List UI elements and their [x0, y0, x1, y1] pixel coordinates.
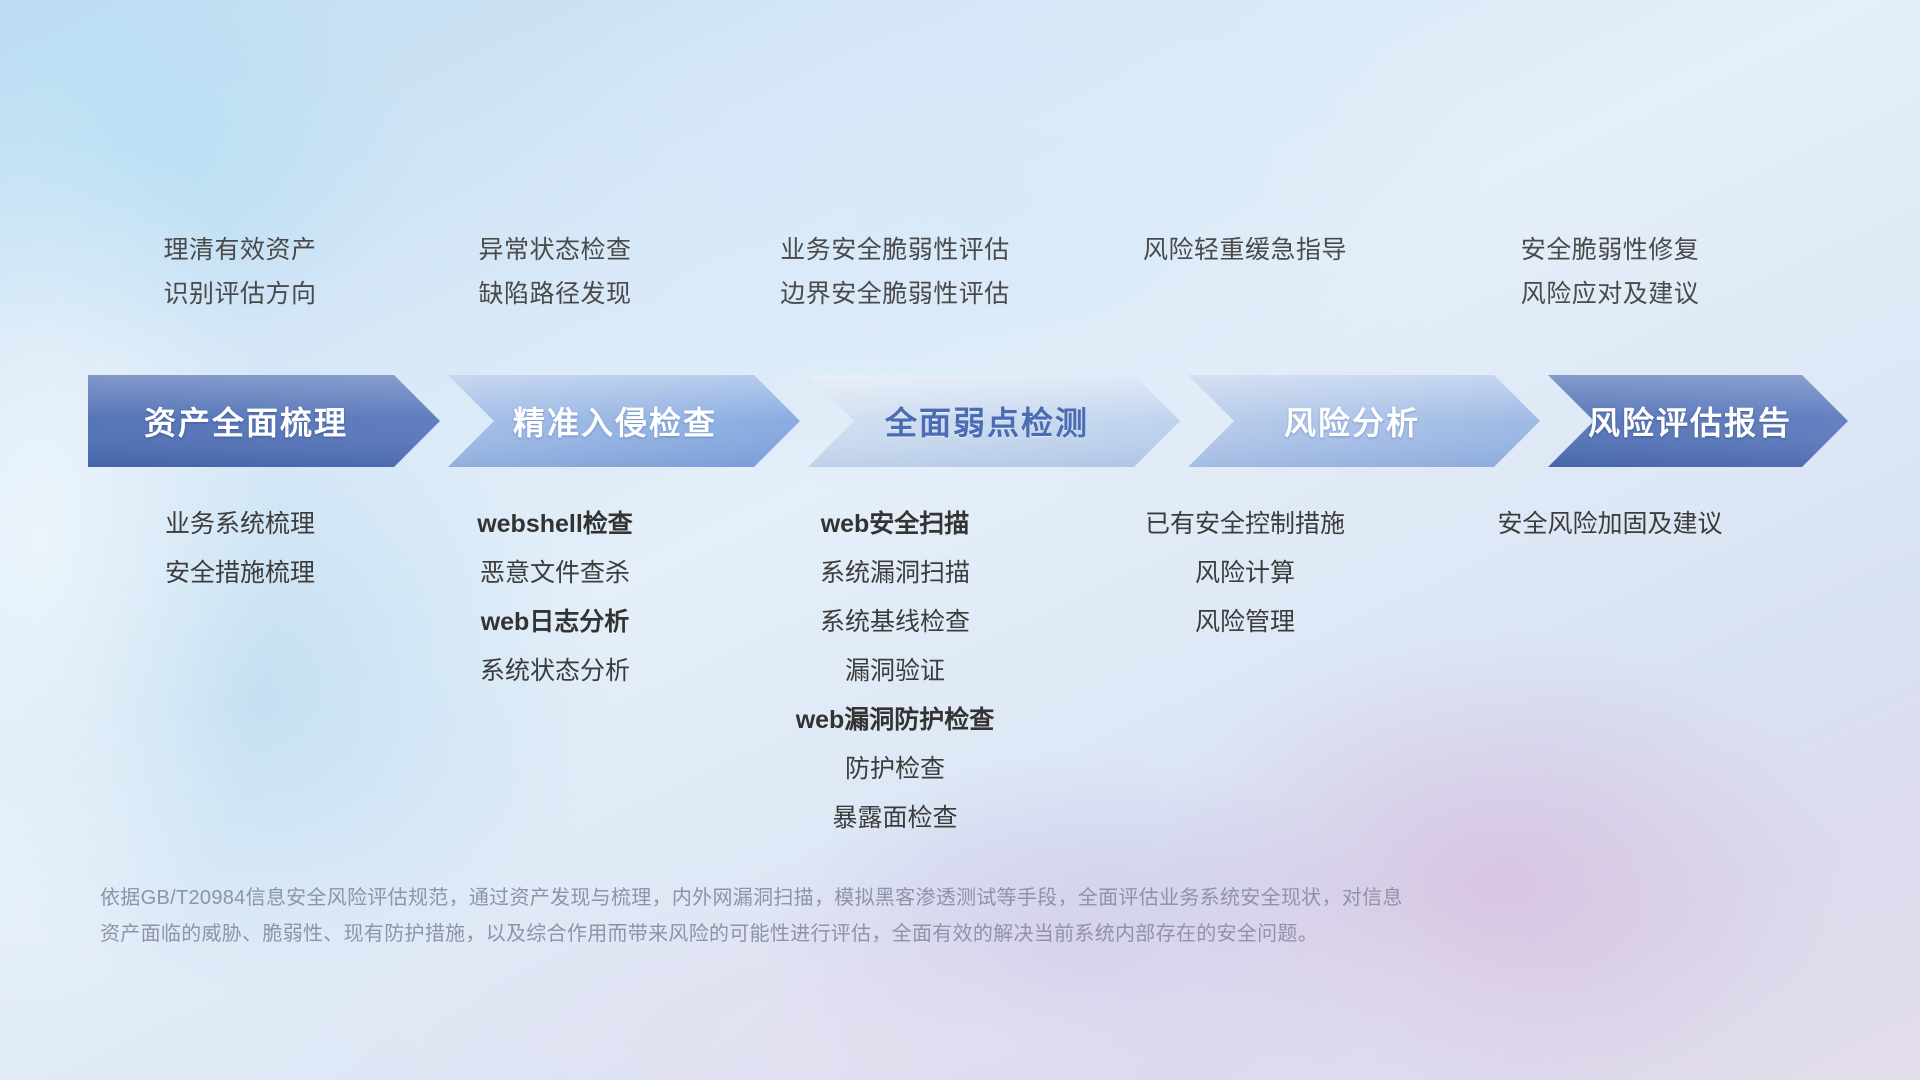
- bottom-list-3: web安全扫描 系统漏洞扫描 系统基线检查 漏洞验证 web漏洞防护检查 防护检…: [720, 500, 1070, 843]
- list-item: web安全扫描: [720, 500, 1070, 549]
- top-label-item: 识别评估方向: [90, 272, 390, 316]
- list-item: web日志分析: [390, 598, 720, 647]
- list-item: 漏洞验证: [720, 647, 1070, 696]
- chevron-label-5: 风险评估报告: [1588, 398, 1792, 444]
- list-item: 风险计算: [1070, 549, 1420, 598]
- bottom-list-5: 安全风险加固及建议: [1420, 500, 1800, 549]
- list-item: 安全风险加固及建议: [1420, 500, 1800, 549]
- list-item: 恶意文件查杀: [390, 549, 720, 598]
- list-item: 系统基线检查: [720, 598, 1070, 647]
- top-label-item: 异常状态检查: [390, 228, 720, 272]
- list-item: webshell检查: [390, 500, 720, 549]
- top-label-item: 缺陷路径发现: [390, 272, 720, 316]
- list-item: 风险管理: [1070, 598, 1420, 647]
- chevron-stage-5[interactable]: 风险评估报告: [1548, 375, 1848, 467]
- footer-description: 依据GB/T20984信息安全风险评估规范，通过资产发现与梳理，内外网漏洞扫描，…: [100, 880, 1720, 952]
- bottom-lists-row: 业务系统梳理 安全措施梳理 webshell检查 恶意文件查杀 web日志分析 …: [90, 500, 1840, 843]
- list-item: 防护检查: [720, 745, 1070, 794]
- bottom-list-2: webshell检查 恶意文件查杀 web日志分析 系统状态分析: [390, 500, 720, 696]
- list-item: 安全措施梳理: [90, 549, 390, 598]
- chevron-stage-4[interactable]: 风险分析: [1188, 375, 1540, 467]
- top-label-item: 风险应对及建议: [1420, 272, 1800, 316]
- footer-line-1: 依据GB/T20984信息安全风险评估规范，通过资产发现与梳理，内外网漏洞扫描，…: [100, 880, 1720, 916]
- chevron-stage-3[interactable]: 全面弱点检测: [808, 375, 1180, 467]
- top-label-item: 边界安全脆弱性评估: [720, 272, 1070, 316]
- top-label-group-2: 异常状态检查 缺陷路径发现: [390, 228, 720, 316]
- top-labels-row: 理清有效资产 识别评估方向 异常状态检查 缺陷路径发现 业务安全脆弱性评估 边界…: [90, 228, 1840, 316]
- top-label-item: 安全脆弱性修复: [1420, 228, 1800, 272]
- top-label-group-4: 风险轻重缓急指导: [1070, 228, 1420, 316]
- infographic-content: 理清有效资产 识别评估方向 异常状态检查 缺陷路径发现 业务安全脆弱性评估 边界…: [0, 0, 1920, 1080]
- list-item: 已有安全控制措施: [1070, 500, 1420, 549]
- chevron-label-2: 精准入侵检查: [513, 398, 717, 444]
- chevron-stage-1[interactable]: 资产全面梳理: [88, 375, 440, 467]
- top-label-group-5: 安全脆弱性修复 风险应对及建议: [1420, 228, 1800, 316]
- top-label-item: 风险轻重缓急指导: [1070, 228, 1420, 272]
- chevron-label-1: 资产全面梳理: [144, 398, 348, 444]
- chevron-label-4: 风险分析: [1284, 398, 1420, 444]
- top-label-item: 业务安全脆弱性评估: [720, 228, 1070, 272]
- top-label-item: 理清有效资产: [90, 228, 390, 272]
- chevron-stage-2[interactable]: 精准入侵检查: [448, 375, 800, 467]
- process-chevron-banner: 资产全面梳理: [88, 375, 1848, 467]
- slide-background: 理清有效资产 识别评估方向 异常状态检查 缺陷路径发现 业务安全脆弱性评估 边界…: [0, 0, 1920, 1080]
- list-item: 系统状态分析: [390, 647, 720, 696]
- bottom-list-1: 业务系统梳理 安全措施梳理: [90, 500, 390, 598]
- list-item: 暴露面检查: [720, 794, 1070, 843]
- footer-line-2: 资产面临的威胁、脆弱性、现有防护措施，以及综合作用而带来风险的可能性进行评估，全…: [100, 916, 1720, 952]
- list-item: 业务系统梳理: [90, 500, 390, 549]
- top-label-group-1: 理清有效资产 识别评估方向: [90, 228, 390, 316]
- list-item: 系统漏洞扫描: [720, 549, 1070, 598]
- list-item: web漏洞防护检查: [720, 696, 1070, 745]
- top-label-group-3: 业务安全脆弱性评估 边界安全脆弱性评估: [720, 228, 1070, 316]
- chevron-label-3: 全面弱点检测: [885, 398, 1089, 444]
- bottom-list-4: 已有安全控制措施 风险计算 风险管理: [1070, 500, 1420, 647]
